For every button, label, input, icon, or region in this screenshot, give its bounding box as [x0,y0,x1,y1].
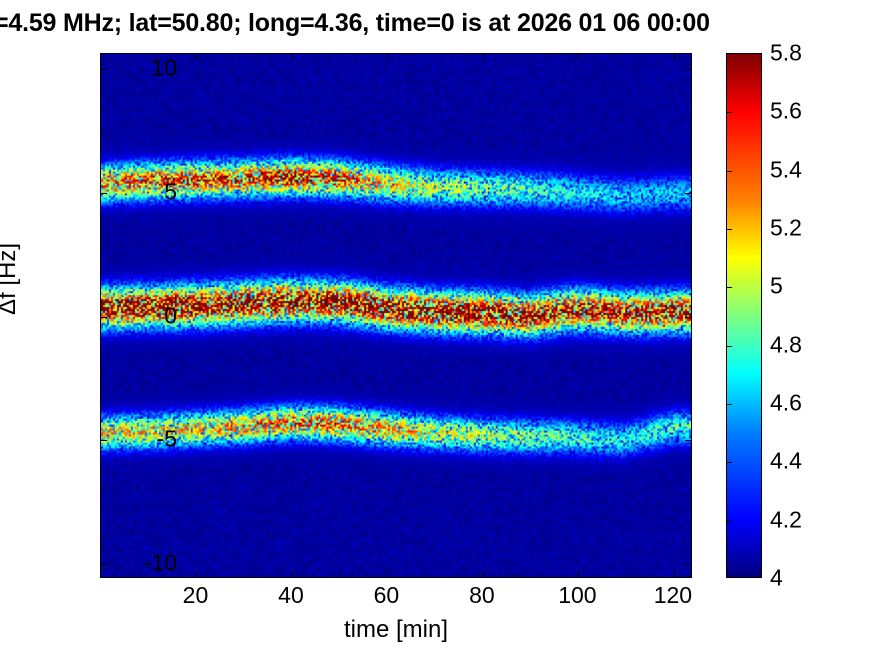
x-tick-mark [674,571,675,577]
x-tick-mark [578,54,579,60]
colorbar-tick-mark [727,229,732,230]
y-tick-mark [685,440,691,441]
colorbar-tick-label: 5 [770,275,840,298]
colorbar-tick-mark [727,287,732,288]
colorbar [726,53,762,578]
y-tick-label: 5 [87,180,177,203]
x-tick-mark [292,571,293,577]
x-tick-mark [387,54,388,60]
colorbar-tick-mark [727,521,732,522]
colorbar-tick-mark [727,462,732,463]
colorbar-tick-label: 4 [770,567,840,590]
x-tick-label: 100 [532,584,622,607]
y-axis-label: Δf [Hz] [0,243,22,315]
colorbar-tick-label: 5.4 [770,158,840,181]
y-tick-mark [685,69,691,70]
colorbar-tick-mark [727,346,732,347]
colorbar-tick-label: 4.8 [770,333,840,356]
x-tick-mark [674,54,675,60]
x-axis-label: time [min] [100,616,692,644]
y-tick-mark [685,564,691,565]
x-tick-mark [483,571,484,577]
colorbar-tick-mark [727,404,732,405]
y-tick-label: 10 [87,56,177,79]
x-tick-mark [196,571,197,577]
x-tick-label: 120 [628,584,718,607]
y-tick-mark [685,193,691,194]
x-tick-mark [292,54,293,60]
colorbar-tick-label: 4.2 [770,508,840,531]
y-tick-label: 0 [87,304,177,327]
colorbar-tick-label: 5.8 [770,42,840,65]
spectrogram-canvas [101,54,691,577]
x-tick-mark [387,571,388,577]
y-tick-label: -5 [87,428,177,451]
spectrogram-figure: =4.59 MHz; lat=50.80; long=4.36, time=0 … [0,0,875,656]
figure-title: =4.59 MHz; lat=50.80; long=4.36, time=0 … [0,6,875,40]
colorbar-tick-mark [727,112,732,113]
y-tick-mark [685,317,691,318]
colorbar-tick-label: 5.2 [770,217,840,240]
x-tick-mark [483,54,484,60]
x-tick-label: 40 [246,584,336,607]
colorbar-tick-mark [727,171,732,172]
y-tick-label: -10 [87,552,177,575]
colorbar-tick-label: 4.4 [770,450,840,473]
plot-area [100,53,692,578]
colorbar-tick-label: 5.6 [770,100,840,123]
x-tick-mark [196,54,197,60]
x-tick-mark [578,571,579,577]
x-tick-label: 20 [150,584,240,607]
x-tick-label: 60 [341,584,431,607]
x-tick-label: 80 [437,584,527,607]
colorbar-tick-label: 4.6 [770,392,840,415]
